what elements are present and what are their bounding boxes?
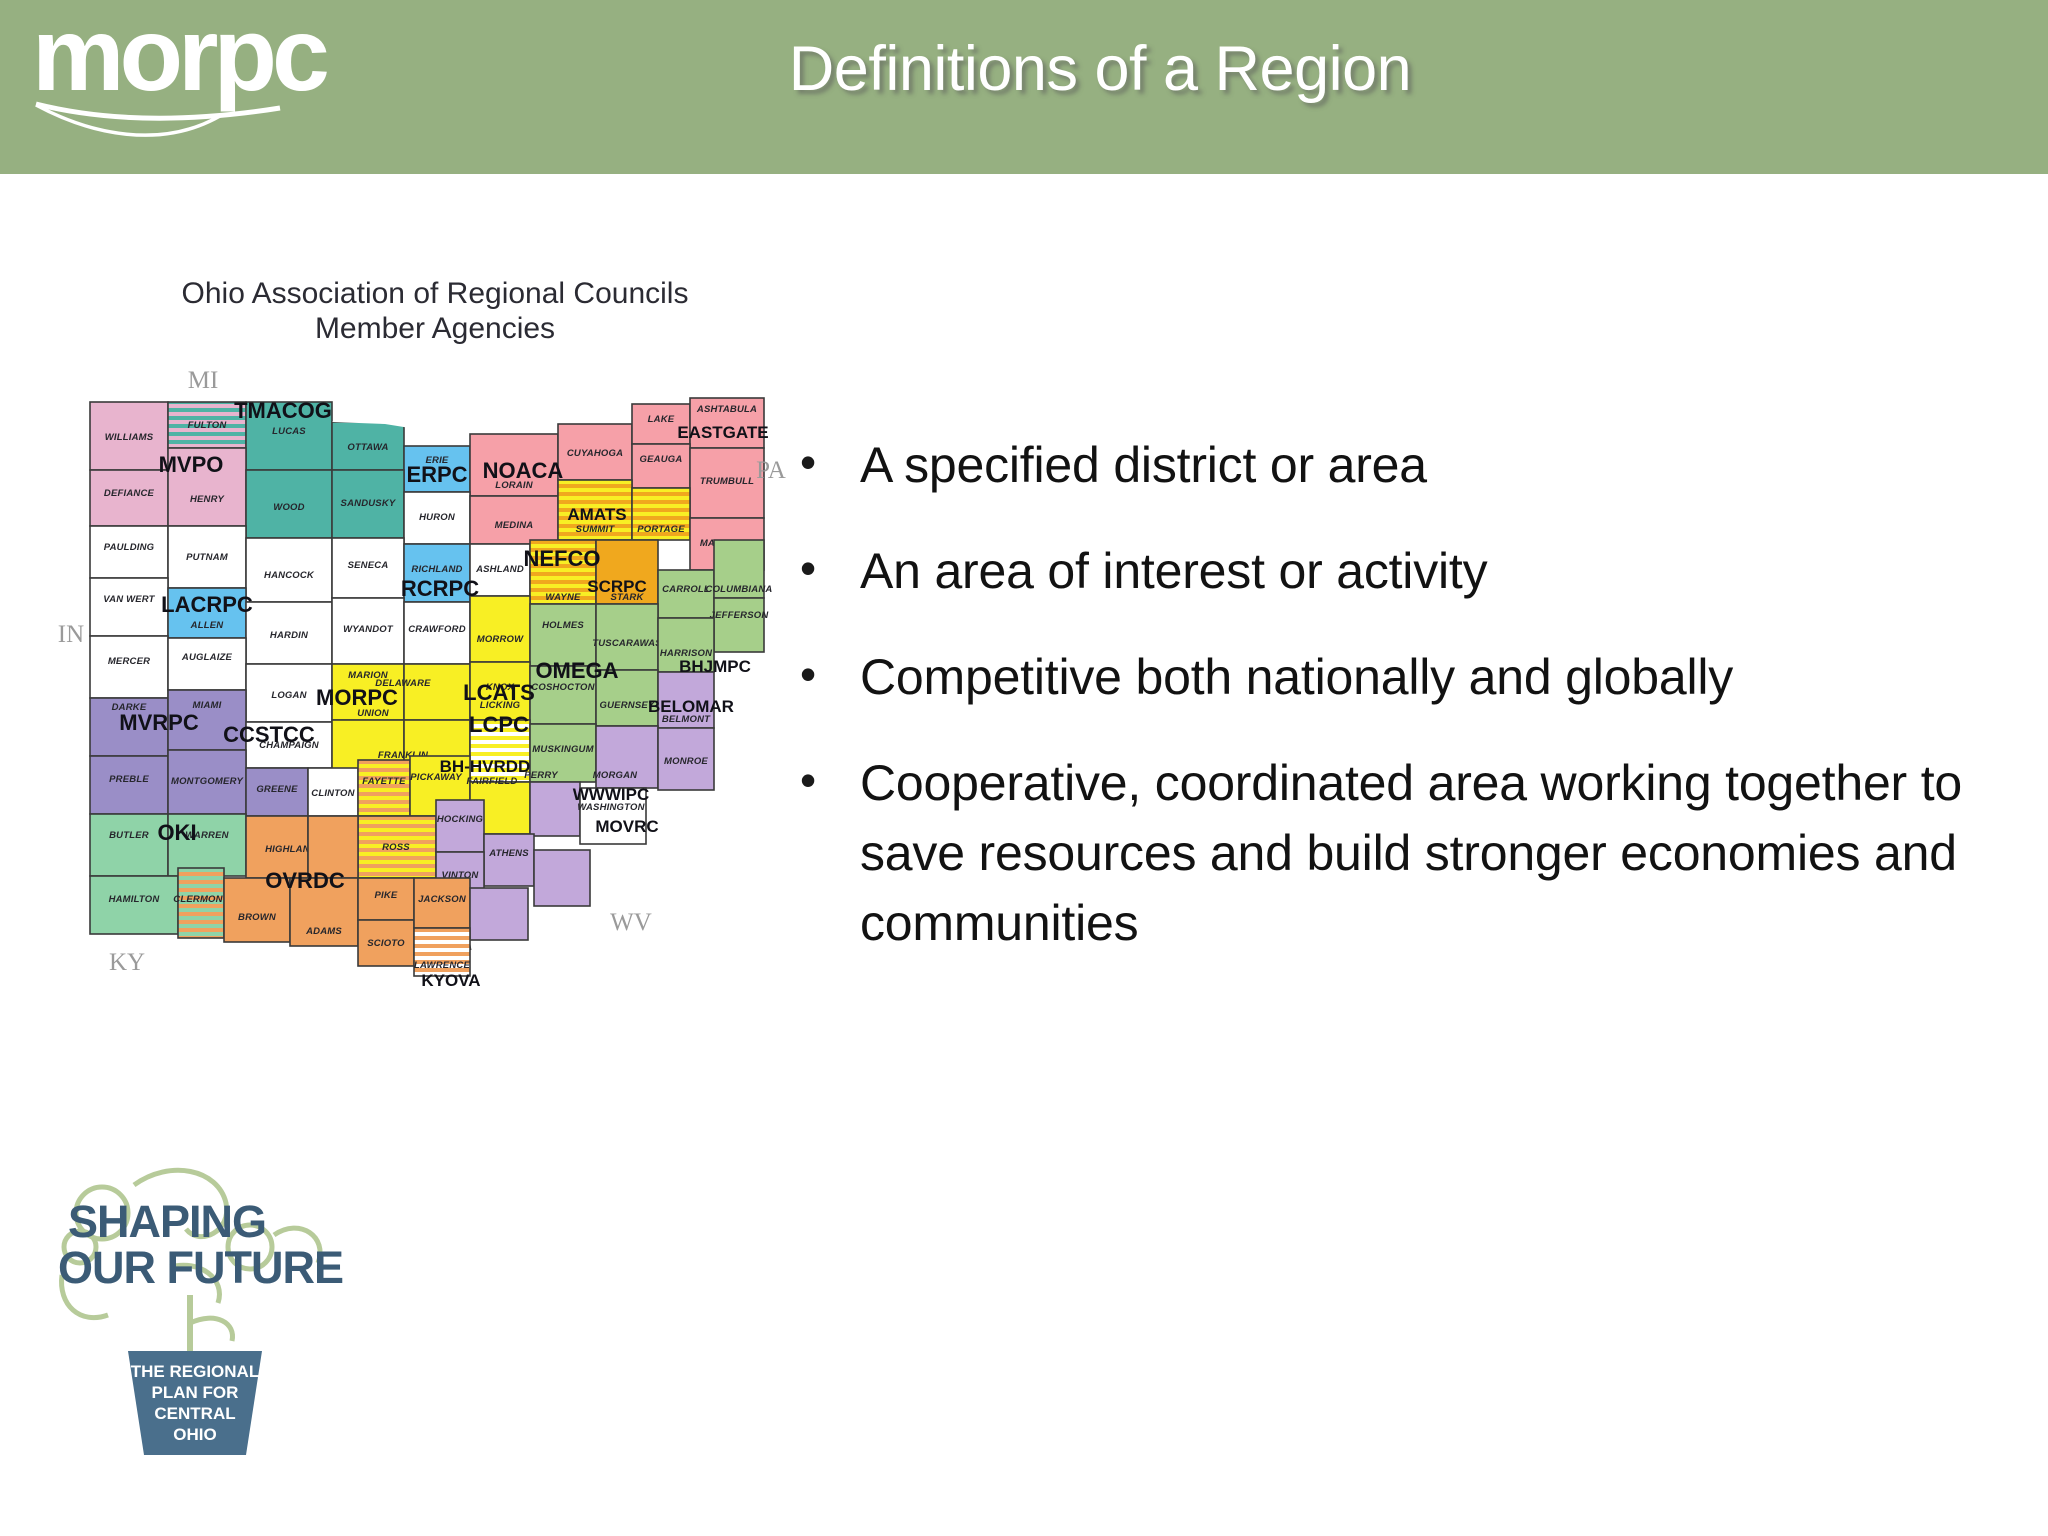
county-label-hamilton: HAMILTON — [109, 894, 161, 905]
county-label-carroll: CARROLL — [662, 584, 710, 595]
county-label-athens: ATHENS — [488, 848, 529, 859]
list-item: • Cooperative, coordinated area working … — [790, 748, 2020, 958]
agency-label-erpc: ERPC — [406, 462, 467, 487]
ohio-map-svg: WILLIAMS FULTON LUCAS OTTAWA ERIE LORAIN… — [55, 360, 815, 1060]
county-label-henry: HENRY — [190, 494, 226, 505]
county-gallia — [470, 888, 528, 940]
county-label-ottawa: OTTAWA — [347, 442, 388, 453]
agency-label-eastgate: EASTGATE — [677, 423, 768, 442]
county-hocking — [436, 800, 484, 852]
county-label-montgomery: MONTGOMERY — [171, 776, 244, 787]
morpc-logo: morpc — [30, 8, 370, 148]
county-label-ashland: ASHLAND — [475, 564, 524, 575]
agency-label-tmacog: TMACOG — [234, 398, 332, 423]
bullet-marker: • — [790, 430, 860, 494]
county-label-butler: BUTLER — [109, 830, 149, 841]
header-divider — [0, 174, 2048, 177]
state-label-pa: PA — [756, 457, 786, 484]
county-label-van-wert: VAN WERT — [103, 594, 155, 605]
bullet-marker: • — [790, 536, 860, 600]
pot-line2: PLAN FOR — [152, 1383, 239, 1402]
sof-line1: SHAPING — [68, 1196, 266, 1247]
list-item: • Competitive both nationally and global… — [790, 642, 2020, 712]
county-label-sandusky: SANDUSKY — [341, 498, 397, 509]
agency-label-lcpc: LCPC — [469, 712, 529, 737]
county-label-logan: LOGAN — [271, 690, 307, 701]
agency-label-mvpo: MVPO — [159, 452, 224, 477]
pot-line4: OHIO — [173, 1425, 216, 1444]
county-label-fulton: FULTON — [188, 420, 228, 431]
state-label-mi: MI — [188, 367, 219, 394]
bullet-text: An area of interest or activity — [860, 536, 2020, 606]
county-label-lawrence: LAWRENCE — [414, 960, 470, 971]
county-butler — [90, 814, 168, 876]
county-label-wayne: WAYNE — [545, 592, 581, 603]
county-label-crawford: CRAWFORD — [408, 624, 466, 635]
leaf-icon — [190, 1318, 233, 1341]
county-label-coshocton: COSHOCTON — [531, 682, 595, 693]
county-morrow — [470, 596, 530, 662]
bullet-text: Competitive both nationally and globally — [860, 642, 2020, 712]
page-title: Definitions of a Region — [500, 38, 1700, 101]
county-label-scioto: SCIOTO — [367, 938, 405, 949]
county-label-hardin: HARDIN — [270, 630, 309, 641]
agency-label-belomar: BELOMAR — [648, 697, 734, 716]
agency-label-kyova: KYOVA — [421, 971, 480, 990]
county-label-clinton: CLINTON — [311, 788, 355, 799]
agency-label-movrc: MOVRC — [595, 817, 658, 836]
agency-label-lcats: LCATS — [463, 680, 535, 705]
county-van-wert — [90, 578, 168, 636]
county-label-huron: HURON — [419, 512, 456, 523]
county-label-mercer: MERCER — [108, 656, 150, 667]
pot-line3: CENTRAL — [154, 1404, 235, 1423]
county-label-wyandot: WYANDOT — [343, 624, 394, 635]
county-label-pike: PIKE — [375, 890, 398, 901]
agency-label-oki: OKI — [157, 820, 196, 845]
agency-label-ccstcc: CCSTCC — [223, 722, 315, 747]
agency-label-morpc: MORPC — [316, 685, 398, 710]
state-label-ky: KY — [109, 949, 145, 976]
county-label-medina: MEDINA — [495, 520, 534, 531]
county-label-trumbull: TRUMBULL — [700, 476, 754, 487]
county-label-brown: BROWN — [238, 912, 277, 923]
county-label-muskingum: MUSKINGUM — [532, 744, 594, 755]
county-label-ashtabula: ASHTABULA — [696, 404, 757, 415]
list-item: • An area of interest or activity — [790, 536, 2020, 606]
agency-label-wwwipc: WWWIPC — [573, 785, 649, 804]
county-label-morgan: MORGAN — [593, 770, 638, 781]
list-item: • A specified district or area — [790, 430, 2020, 500]
county-union — [404, 664, 470, 720]
county-preble — [90, 756, 168, 814]
agency-label-lacrpc: LACRPC — [161, 592, 253, 617]
county-mercer — [90, 636, 168, 698]
county-label-greene: GREENE — [256, 784, 298, 795]
county-hamilton — [90, 876, 178, 934]
county-label-geauga: GEAUGA — [640, 454, 683, 465]
bullet-text: A specified district or area — [860, 430, 2020, 500]
county-label-jefferson: JEFFERSON — [710, 610, 770, 621]
agency-label-amats: AMATS — [567, 505, 626, 524]
map-graphic: WILLIAMS FULTON LUCAS OTTAWA ERIE LORAIN… — [55, 360, 815, 1080]
county-label-summit: SUMMIT — [576, 524, 616, 535]
county-label-williams: WILLIAMS — [105, 432, 154, 443]
map-caption: Ohio Association of Regional Councils Me… — [115, 276, 755, 346]
county-label-columbiana: COLUMBIANA — [706, 584, 773, 595]
county-label-cuyahoga: CUYAHOGA — [567, 448, 623, 459]
definitions-bullet-list: • A specified district or area • An area… — [790, 430, 2020, 994]
county-label-wood: WOOD — [273, 502, 304, 513]
county-label-tuscarawas: TUSCARAWAS — [592, 638, 662, 649]
state-label-in: IN — [58, 621, 84, 648]
county-athens — [484, 834, 534, 886]
map-caption-line2: Member Agencies — [115, 311, 755, 346]
bullet-text: Cooperative, coordinated area working to… — [860, 748, 2020, 958]
county-label-fayette: FAYETTE — [362, 776, 406, 787]
county-label-lucas: LUCAS — [272, 426, 306, 437]
county-label-hocking: HOCKING — [437, 814, 484, 825]
shaping-our-future-logo: SHAPING OUR FUTURE THE REGIONAL PLAN FOR… — [50, 1155, 350, 1495]
county-label-monroe: MONROE — [664, 756, 708, 767]
county-label-auglaize: AUGLAIZE — [181, 652, 233, 663]
state-label-wv: WV — [610, 909, 652, 936]
bullet-marker: • — [790, 642, 860, 706]
county-label-fairfield: FAIRFIELD — [467, 776, 518, 787]
pot-line1: THE REGIONAL — [131, 1362, 259, 1381]
agency-label-scrpc: SCRPC — [587, 577, 647, 596]
county-label-paulding: PAULDING — [104, 542, 155, 553]
county-label-portage: PORTAGE — [637, 524, 685, 535]
county-geauga — [632, 444, 690, 488]
county-label-seneca: SENECA — [348, 560, 389, 571]
agency-label-mvrpc: MVRPC — [119, 710, 199, 735]
agency-label-ovrdc: OVRDC — [265, 868, 345, 893]
county-fayette — [358, 760, 410, 816]
county-label-holmes: HOLMES — [542, 620, 584, 631]
county-label-defiance: DEFIANCE — [104, 488, 155, 499]
sof-line2: OUR FUTURE — [58, 1242, 343, 1293]
county-jefferson — [714, 598, 764, 652]
county-label-morrow: MORROW — [477, 634, 524, 645]
agency-label-omega: OMEGA — [535, 658, 618, 683]
agency-label-noaca: NOACA — [483, 458, 564, 483]
county-auglaize — [168, 638, 246, 690]
agency-label-bh-hvrdd: BH-HVRDD — [440, 757, 531, 776]
morpc-logo-wordmark: morpc — [32, 8, 327, 113]
agency-label-rcrpc: RCRPC — [401, 576, 479, 601]
county-label-preble: PREBLE — [109, 774, 149, 785]
county-label-jackson: JACKSON — [418, 894, 467, 905]
county-label-richland: RICHLAND — [411, 564, 462, 575]
bullet-marker: • — [790, 748, 860, 812]
agency-label-bhjmpc: BHJMPC — [679, 657, 751, 676]
county-label-ross: ROSS — [382, 842, 410, 853]
slide-header: morpc Definitions of a Region — [0, 0, 2048, 174]
ohio-regional-councils-map: Ohio Association of Regional Councils Me… — [55, 260, 815, 1080]
county-holmes — [530, 604, 596, 666]
county-label-allen: ALLEN — [190, 620, 225, 631]
county-meigs — [534, 850, 590, 906]
county-label-adams: ADAMS — [305, 926, 342, 937]
county-label-lake: LAKE — [648, 414, 675, 425]
agency-label-nefco: NEFCO — [524, 546, 601, 571]
map-caption-line1: Ohio Association of Regional Councils — [115, 276, 755, 311]
county-label-hancock: HANCOCK — [264, 570, 315, 581]
county-label-putnam: PUTNAM — [186, 552, 229, 563]
county-label-clermont: CLERMONT — [173, 894, 229, 905]
